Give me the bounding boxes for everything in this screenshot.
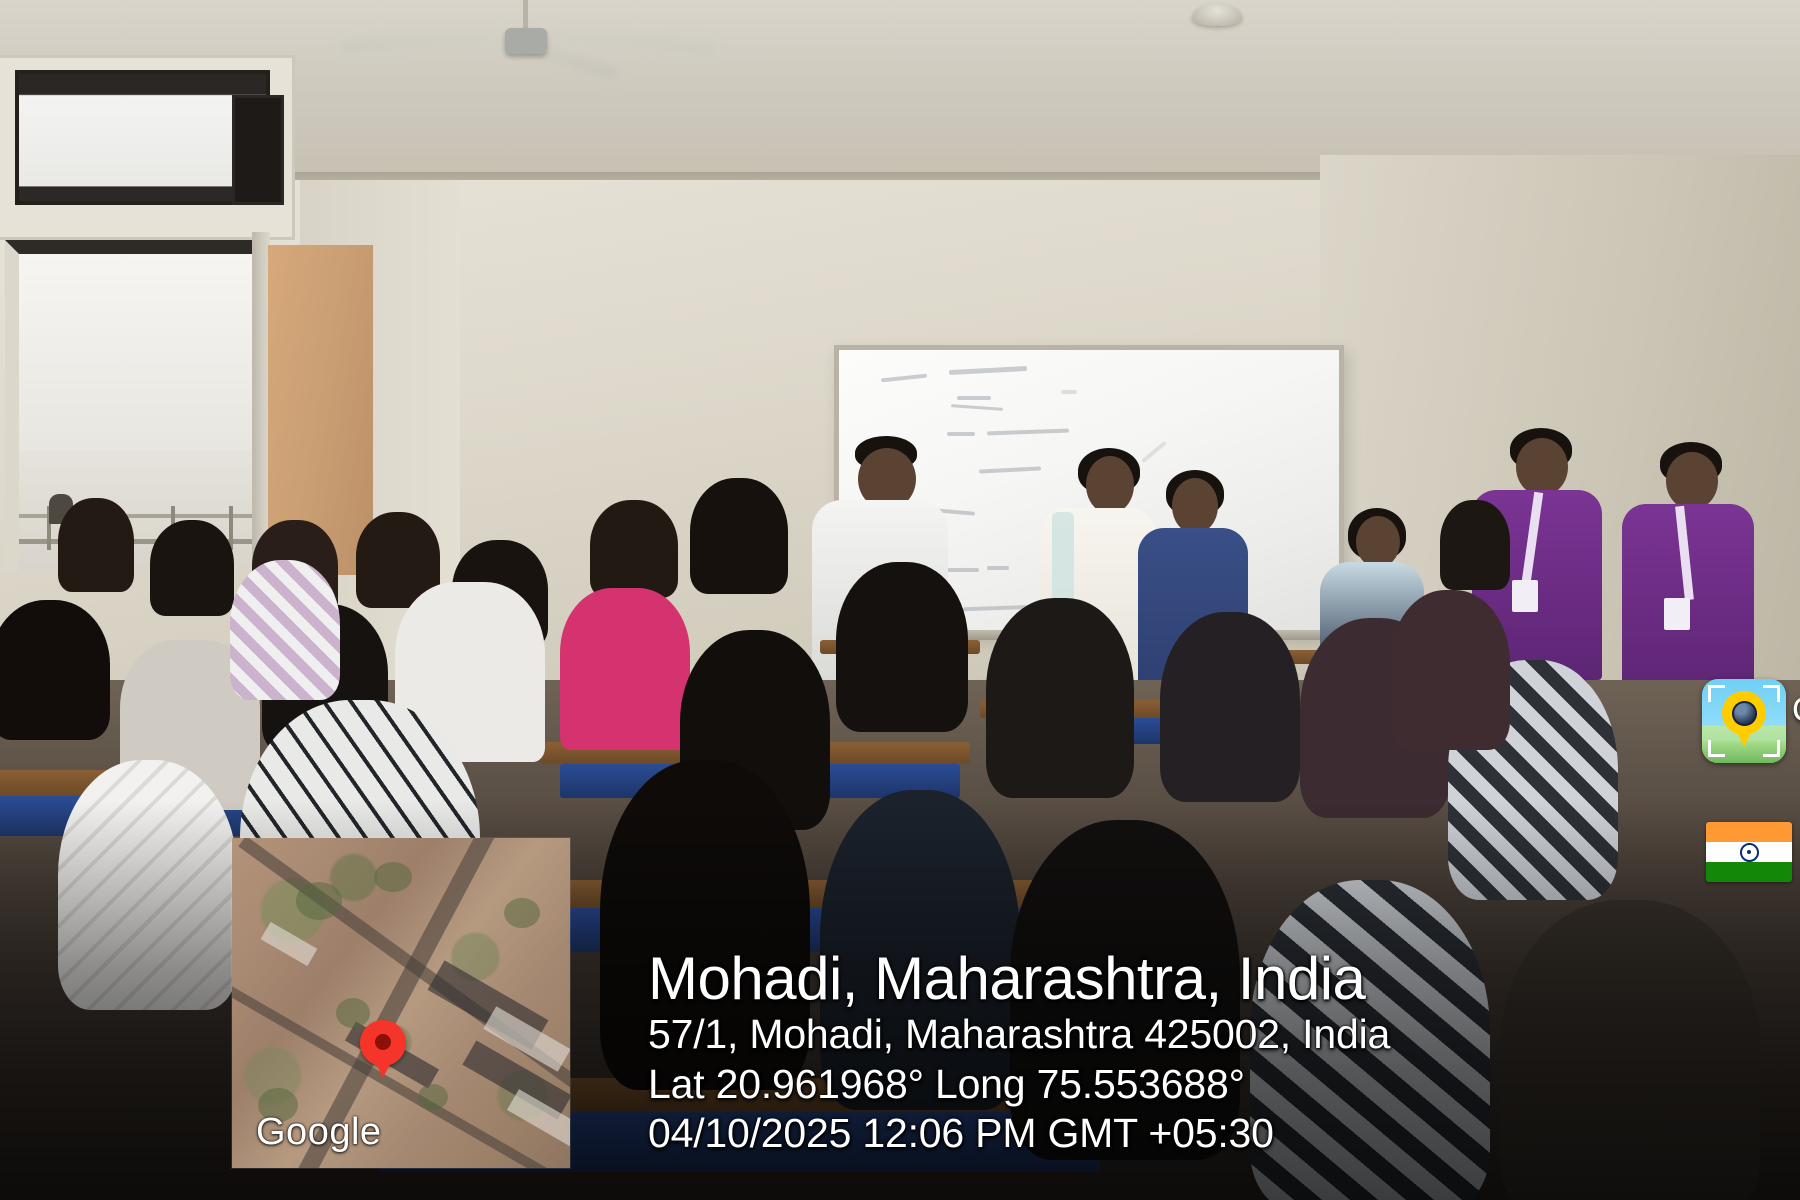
india-flag-icon [1706,822,1792,882]
gps-info-block: Mohadi, Maharashtra, India 57/1, Mohadi,… [648,948,1658,1158]
location-title: Mohadi, Maharashtra, India [648,948,1658,1010]
map-thumbnail[interactable]: Google [232,838,570,1168]
gps-map-camera-icon [1702,679,1786,763]
screenshot-root: G Google Mohadi, Maharashtra, India 57/1… [0,0,1800,1200]
location-address: 57/1, Mohadi, Maharashtra 425002, India [648,1010,1658,1059]
location-pin-icon [360,1020,406,1066]
google-watermark: Google [256,1111,382,1154]
location-coordinates: Lat 20.961968° Long 75.553688° [648,1060,1658,1109]
app-name-label: G [1792,691,1800,730]
location-timestamp: 04/10/2025 12:06 PM GMT +05:30 [648,1109,1658,1158]
smoke-detector-icon [1192,4,1242,26]
